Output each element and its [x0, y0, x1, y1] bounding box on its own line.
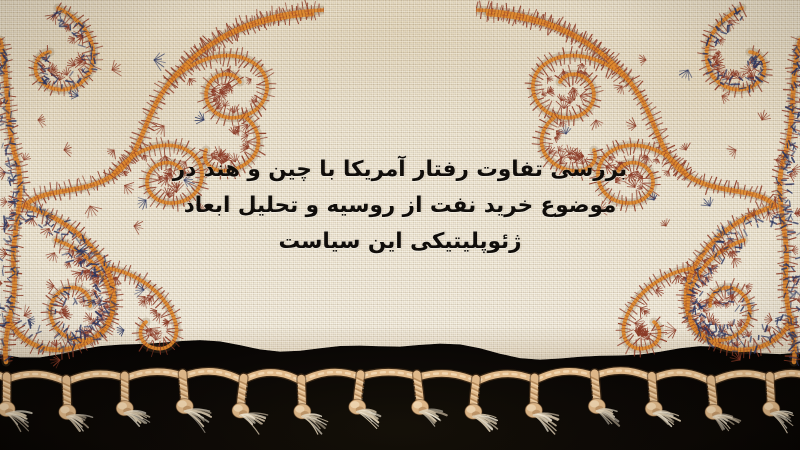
headline-line-3: ژئوپلیتیکی این سیاست	[165, 224, 635, 260]
title-card-image: بررسی تفاوت رفتار آمریکا با چین و هند در…	[0, 0, 800, 450]
headline-line-1: بررسی تفاوت رفتار آمریکا با چین و هند در	[165, 152, 635, 188]
headline-text-block: بررسی تفاوت رفتار آمریکا با چین و هند در…	[165, 152, 635, 260]
headline-line-2: موضوع خرید نفت از روسیه و تحلیل ابعاد	[165, 188, 635, 224]
